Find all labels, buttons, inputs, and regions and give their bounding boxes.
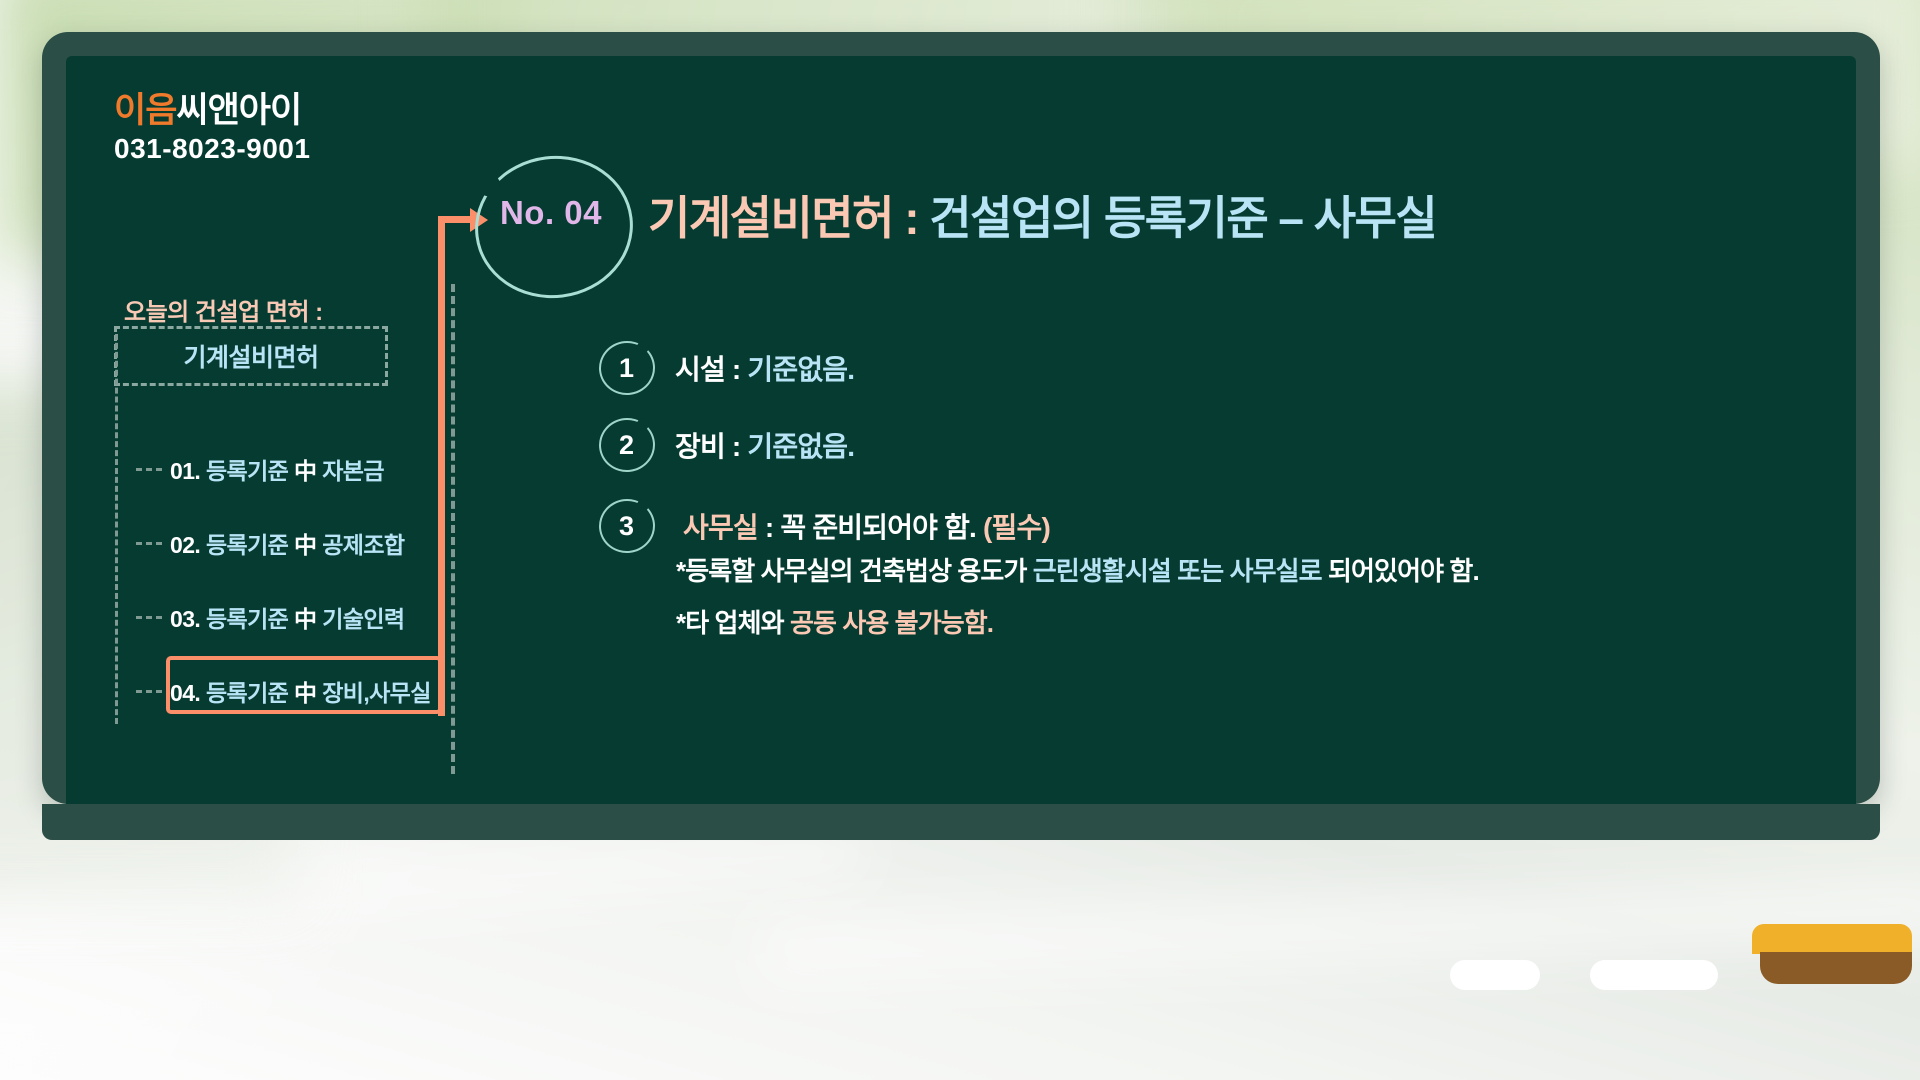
board-eraser[interactable] xyxy=(1752,924,1912,984)
sidebar-item-02-pre: 등록기준 xyxy=(206,532,294,558)
eraser-bottom xyxy=(1760,952,1912,984)
sidebar-item-01[interactable]: 01. 등록기준 中 자본금 xyxy=(136,452,384,486)
row-1-number-circle-icon: 1 xyxy=(596,338,657,398)
sidebar-tick-icon xyxy=(136,542,162,545)
sidebar-item-02[interactable]: 02. 등록기준 中 공제조합 xyxy=(136,526,404,560)
today-license-label: 오늘의 건설업 면허 : xyxy=(124,292,323,327)
row-2-number-circle-icon: 2 xyxy=(596,415,657,475)
content-row-2: 2 장비 : 기준없음. xyxy=(599,418,854,472)
sub-line-1-part-a: *등록할 사무실의 건축법상 용도가 xyxy=(676,556,1033,586)
company-logo: 이음씨앤아이 031-8023-9001 xyxy=(114,92,310,164)
row-3-number: 3 xyxy=(619,511,634,542)
page-title-blue: 건설업의 등록기준 – 사무실 xyxy=(918,192,1436,244)
row-2-number: 2 xyxy=(619,430,634,461)
content-row-1: 1 시설 : 기준없음. xyxy=(599,341,854,395)
chalkboard-surface: 이음씨앤아이 031-8023-9001 오늘의 건설업 면허 : 기계설비면허… xyxy=(66,56,1856,804)
row-1-number: 1 xyxy=(619,353,634,384)
sidebar-tick-icon xyxy=(136,616,162,619)
sidebar-item-02-num: 02. xyxy=(170,532,200,558)
row-3-label-required: (필수) xyxy=(983,512,1050,543)
content-row-3: 3 사무실 : 꼭 준비되어야 함. (필수) xyxy=(599,499,1050,553)
sub-line-2-part-a: *타 업체와 xyxy=(676,608,790,638)
sidebar-item-03[interactable]: 03. 등록기준 中 기술인력 xyxy=(136,600,404,634)
today-license-box: 기계설비면허 xyxy=(114,326,388,386)
brand-highlight: 이음 xyxy=(114,91,176,130)
connector-line-horizontal xyxy=(438,216,474,223)
sidebar-item-03-num: 03. xyxy=(170,606,200,632)
sidebar-item-02-han: 中 xyxy=(294,532,316,558)
sidebar-item-03-post: 기술인력 xyxy=(316,606,404,632)
sidebar-item-01-post: 자본금 xyxy=(316,458,383,484)
sidebar-item-02-post: 공제조합 xyxy=(316,532,404,558)
sub-line-2: *타 업체와 공동 사용 불가능함. xyxy=(676,603,993,640)
sub-line-1-part-c: 되어있어야 함. xyxy=(1322,556,1479,586)
sidebar-item-03-pre: 등록기준 xyxy=(206,606,294,632)
badge-number: No. 04 xyxy=(475,194,627,232)
sidebar-item-01-han: 中 xyxy=(294,458,316,484)
phone-number: 031-8023-9001 xyxy=(114,134,310,164)
eraser-top xyxy=(1752,924,1912,954)
brand-name: 이음씨앤아이 xyxy=(114,92,310,130)
chalkboard-frame: 이음씨앤아이 031-8023-9001 오늘의 건설업 면허 : 기계설비면허… xyxy=(42,32,1880,804)
background-streak xyxy=(759,879,1920,981)
sidebar-tick-icon xyxy=(136,468,162,471)
sub-line-2-part-b: 공동 사용 불가능함. xyxy=(790,608,993,638)
page-title-peach: 기계설비면허 : xyxy=(648,192,918,244)
sidebar-tick-icon xyxy=(136,690,162,693)
sidebar-spine xyxy=(115,334,118,724)
chalk-stick-2[interactable] xyxy=(1590,960,1718,990)
row-3-label-peach: 사무실 xyxy=(683,512,758,543)
row-3-number-circle-icon: 3 xyxy=(596,496,657,556)
chalkboard-ledge xyxy=(42,804,1880,840)
row-1-label: 시설 : xyxy=(675,354,747,385)
page-title: 기계설비면허 : 건설업의 등록기준 – 사무실 xyxy=(648,182,1436,248)
brand-rest: 씨앤아이 xyxy=(176,91,301,130)
sub-line-1: *등록할 사무실의 건축법상 용도가 근린생활시설 또는 사무실로 되어있어야 … xyxy=(676,551,1479,588)
row-2-value: 기준없음. xyxy=(747,431,854,462)
chalk-stick-1[interactable] xyxy=(1450,960,1540,990)
sidebar-item-03-han: 中 xyxy=(294,606,316,632)
today-license-value: 기계설비면허 xyxy=(183,338,318,374)
connector-line-vertical xyxy=(438,216,445,716)
column-divider xyxy=(451,284,455,774)
sidebar-active-highlight xyxy=(166,656,442,714)
row-2-label: 장비 : xyxy=(675,431,747,462)
row-3-label-white: : 꼭 준비되어야 함. xyxy=(758,512,983,543)
row-1-value: 기준없음. xyxy=(747,354,854,385)
sidebar-item-01-num: 01. xyxy=(170,458,200,484)
sidebar-item-01-pre: 등록기준 xyxy=(206,458,294,484)
sub-line-1-part-b: 근린생활시설 또는 사무실로 xyxy=(1033,556,1322,586)
